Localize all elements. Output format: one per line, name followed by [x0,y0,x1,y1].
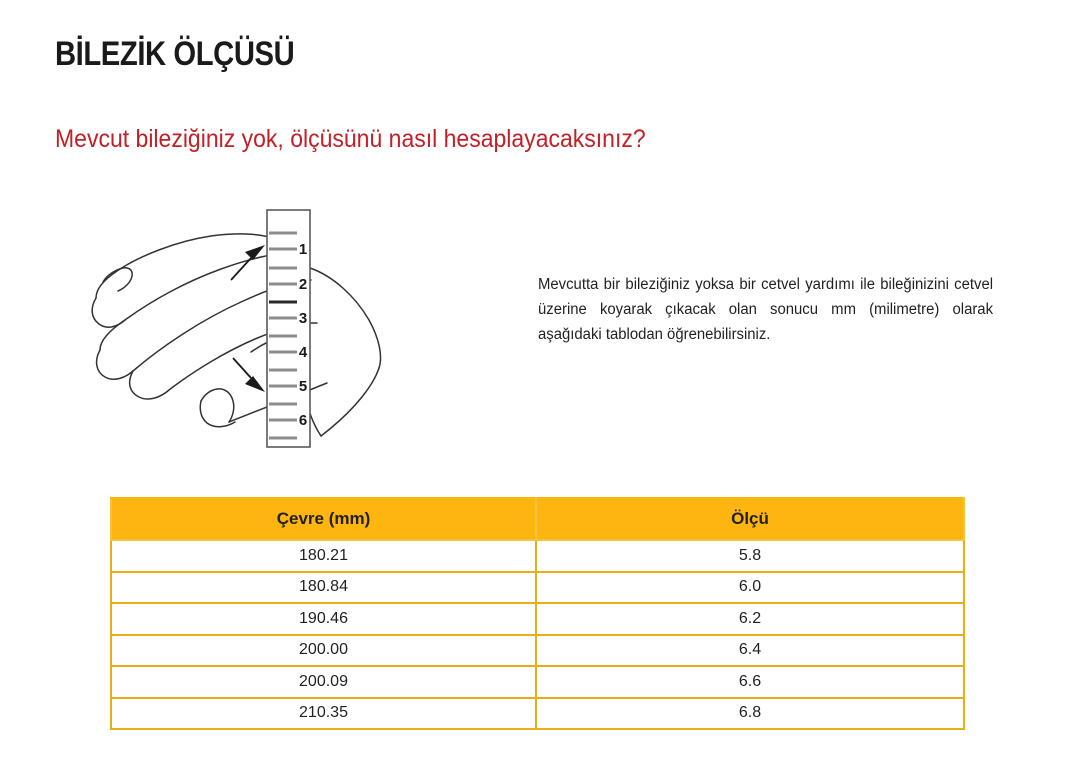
forearm-top-outline [310,268,381,368]
instruction-paragraph: Mevcutta bir bileziğiniz yoksa bir cetve… [538,272,993,347]
cell-size: 6.2 [536,603,964,635]
cell-circumference: 210.35 [111,698,536,730]
page-subtitle: Mevcut bileziğiniz yok, ölçüsünü nasıl h… [55,124,646,154]
ruler-label-6: 6 [299,412,307,429]
hand-ruler-illustration: Bir cetvel üzerine konmuş el ve bilek çi… [55,196,475,471]
ruler-label-4: 4 [299,344,308,361]
cell-circumference: 200.09 [111,666,536,698]
column-header-size: Ölçü [536,498,964,540]
cell-circumference: 180.21 [111,540,536,572]
cell-size: 6.4 [536,635,964,667]
ruler-label-1: 1 [299,241,307,258]
cell-circumference: 180.84 [111,572,536,604]
lower-palm-edge-2 [200,401,235,427]
hand-ruler-diagram: 1 2 3 4 5 6 [55,196,475,471]
table-row: 180.84 6.0 [111,572,964,604]
measure-arrows [231,245,265,392]
cell-size: 6.6 [536,666,964,698]
upper-measure-arrow [231,245,265,280]
thumb-outline [201,389,234,422]
table-row: 200.09 6.6 [111,666,964,698]
table-row: 210.35 6.8 [111,698,964,730]
table-row: 190.46 6.2 [111,603,964,635]
bracelet-size-table: Çevre (mm) Ölçü 180.21 5.8 180.84 6.0 19… [110,497,965,730]
cell-circumference: 200.00 [111,635,536,667]
ruler: 1 2 3 4 5 6 [267,210,310,447]
finger-outline-1 [96,234,293,298]
cell-circumference: 190.46 [111,603,536,635]
finger-outline-2 [100,320,125,350]
ruler-label-2: 2 [299,276,307,293]
lower-measure-arrow [233,358,265,392]
ruler-label-3: 3 [299,310,307,327]
forearm-bottom-outline [321,368,379,436]
finger-outline-2b [97,350,133,379]
table-header-row: Çevre (mm) Ölçü [111,498,964,540]
finger-outline-3 [130,371,169,399]
cell-size: 5.8 [536,540,964,572]
table-row: 180.21 5.8 [111,540,964,572]
cell-size: 6.8 [536,698,964,730]
ruler-label-5: 5 [299,378,307,395]
page-title: BİLEZİK ÖLÇÜSÜ [55,34,294,74]
cell-size: 6.0 [536,572,964,604]
column-header-circumference: Çevre (mm) [111,498,536,540]
table-row: 200.00 6.4 [111,635,964,667]
